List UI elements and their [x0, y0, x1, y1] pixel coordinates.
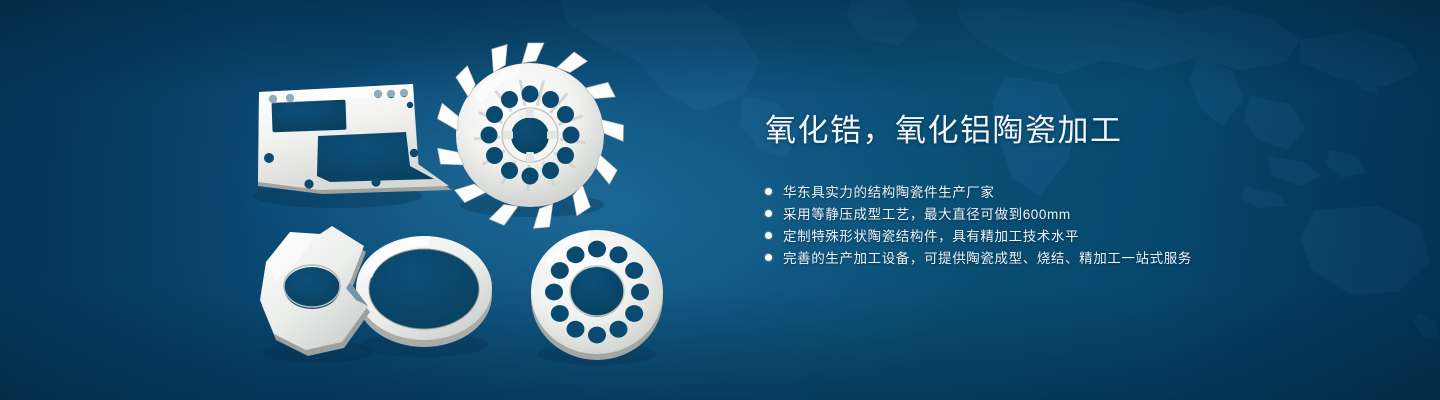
- list-item-label: 华东具实力的结构陶瓷件生产厂家: [783, 181, 995, 201]
- feature-list: 华东具实力的结构陶瓷件生产厂家 采用等静压成型工艺，最大直径可做到600mm 定…: [765, 180, 1285, 268]
- page-title: 氧化锆，氧化铝陶瓷加工: [765, 112, 1285, 150]
- product-banner: 氧化锆，氧化铝陶瓷加工 华东具实力的结构陶瓷件生产厂家 采用等静压成型工艺，最大…: [0, 0, 1440, 400]
- ceramic-impeller-rotor: [436, 43, 626, 231]
- bullet-dot-icon: [765, 254, 772, 261]
- list-item-label: 完善的生产加工设备，可提供陶瓷成型、烧结、精加工一站式服务: [783, 247, 1192, 267]
- banner-copy: 氧化锆，氧化铝陶瓷加工 华东具实力的结构陶瓷件生产厂家 采用等静压成型工艺，最大…: [765, 112, 1285, 268]
- bullet-dot-icon: [765, 232, 772, 239]
- bullet-dot-icon: [765, 188, 772, 195]
- bullet-dot-icon: [765, 210, 772, 217]
- ceramic-perforated-disc: [531, 230, 663, 365]
- list-item: 华东具实力的结构陶瓷件生产厂家: [765, 180, 1285, 202]
- list-item: 采用等静压成型工艺，最大直径可做到600mm: [765, 202, 1285, 224]
- list-item-label: 采用等静压成型工艺，最大直径可做到600mm: [783, 203, 1071, 223]
- list-item: 完善的生产加工设备，可提供陶瓷成型、烧结、精加工一站式服务: [765, 246, 1285, 268]
- ceramic-ring: [356, 236, 492, 357]
- list-item: 定制特殊形状陶瓷结构件，具有精加工技术水平: [765, 224, 1285, 246]
- list-item-label: 定制特殊形状陶瓷结构件，具有精加工技术水平: [783, 225, 1079, 245]
- ceramic-cross-part: [260, 226, 374, 363]
- ceramic-flat-plate: [254, 84, 452, 208]
